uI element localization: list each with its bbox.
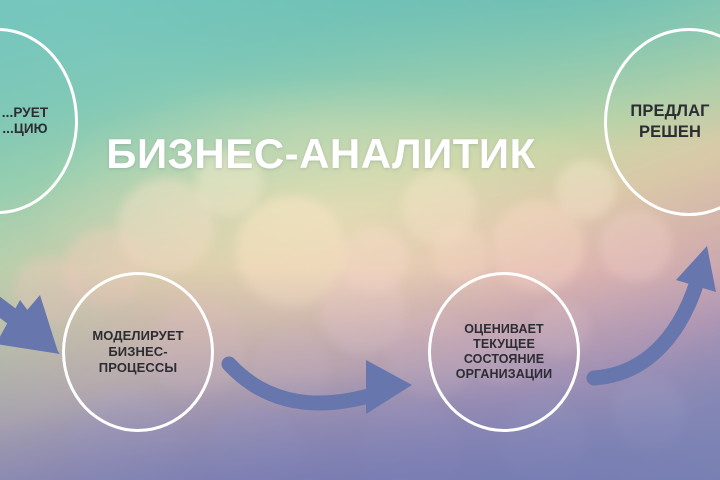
page-title: БИЗНЕС-АНАЛИТИК xyxy=(76,133,566,175)
node-assess[interactable]: ОЦЕНИВАЕТ ТЕКУЩЕЕ СОСТОЯНИЕ ОРГАНИЗАЦИИ xyxy=(428,272,580,432)
arrow-analyze-to-model-icon xyxy=(0,268,60,354)
arrow-model-to-assess-icon xyxy=(229,360,412,414)
node-analyze[interactable]: ...РУЕТ ...ЦИЮ xyxy=(0,28,78,214)
node-model-label: МОДЕЛИРУЕТ БИЗНЕС- ПРОЦЕССЫ xyxy=(86,328,189,376)
node-assess-label: ОЦЕНИВАЕТ ТЕКУЩЕЕ СОСТОЯНИЕ ОРГАНИЗАЦИИ xyxy=(450,322,558,383)
poster-canvas: БИЗНЕС-АНАЛИТИК ...РУЕТ ...ЦИЮ МОДЕЛИРУЕ… xyxy=(0,0,720,480)
arrow-assess-to-propose-icon xyxy=(594,246,716,378)
node-analyze-label: ...РУЕТ ...ЦИЮ xyxy=(0,105,54,138)
node-model[interactable]: МОДЕЛИРУЕТ БИЗНЕС- ПРОЦЕССЫ xyxy=(62,272,214,432)
node-propose-label: ПРЕДЛАГ РЕШЕН xyxy=(624,101,720,144)
node-propose[interactable]: ПРЕДЛАГ РЕШЕН xyxy=(604,28,720,216)
